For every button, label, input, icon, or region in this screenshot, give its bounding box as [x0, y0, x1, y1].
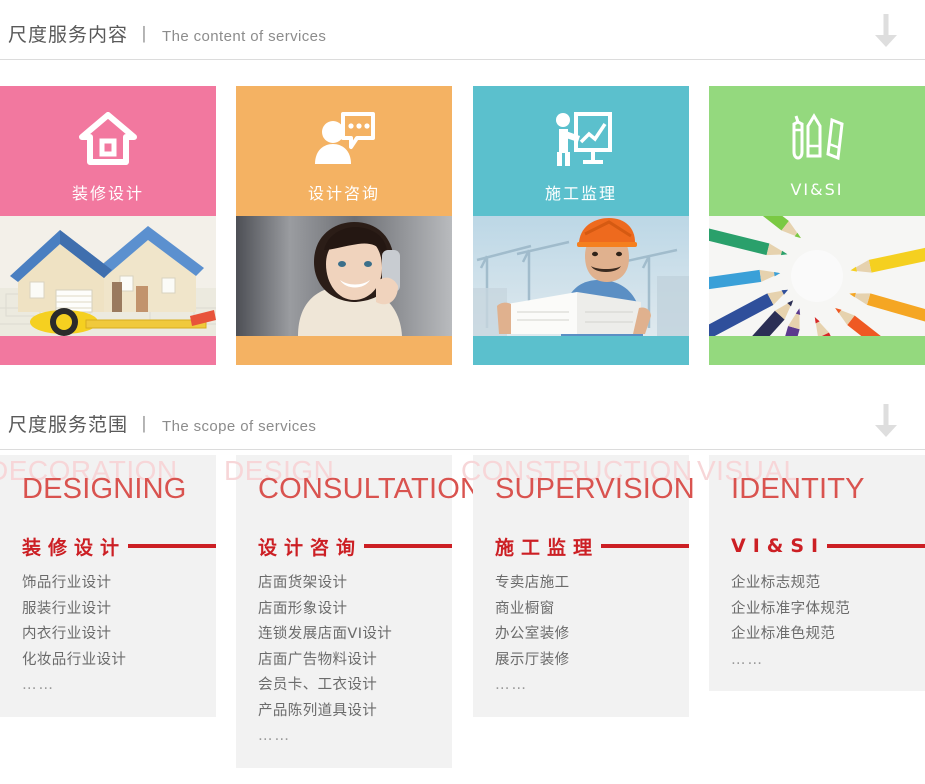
- section-title-en: The content of services: [162, 28, 326, 45]
- scope-column-header: DESIGN CONSULTATION: [236, 455, 452, 533]
- scope-item-list: 店面货架设计 店面形象设计 连锁发展店面VI设计 店面广告物料设计 会员卡、工衣…: [258, 571, 452, 750]
- list-item[interactable]: 连锁发展店面VI设计: [258, 622, 452, 648]
- list-item[interactable]: 企业标准字体规范: [731, 597, 925, 623]
- scope-cn-title-row: 施工监理: [495, 533, 689, 559]
- service-card-row: 装修设计: [0, 86, 925, 365]
- scope-column-header: DECORATION DESIGNING: [0, 455, 216, 533]
- list-item-ellipsis: ……: [731, 648, 925, 674]
- section-title-cn: 尺度服务内容: [8, 20, 128, 47]
- presenter-chart-icon: [550, 110, 612, 168]
- service-card-label: 设计咨询: [308, 180, 380, 204]
- section-title-en: The scope of services: [162, 418, 316, 435]
- list-item-ellipsis: ……: [22, 673, 216, 699]
- section-title-group: 尺度服务内容 丨 The content of services: [8, 20, 326, 47]
- list-item[interactable]: 会员卡、工衣设计: [258, 673, 452, 699]
- list-item[interactable]: 专卖店施工: [495, 571, 689, 597]
- scope-cn-title: 设计咨询: [258, 533, 362, 560]
- list-item[interactable]: 产品陈列道具设计: [258, 699, 452, 725]
- arrow-down-icon: [871, 404, 901, 438]
- list-item[interactable]: 店面形象设计: [258, 597, 452, 623]
- list-item[interactable]: 服装行业设计: [22, 597, 216, 623]
- scope-item-list: 企业标志规范 企业标准字体规范 企业标准色规范 ……: [731, 571, 925, 673]
- scope-item-list: 专卖店施工 商业橱窗 办公室装修 展示厅装修 ……: [495, 571, 689, 699]
- arrow-down-icon: [871, 14, 901, 48]
- scope-en-title: SUPERVISION: [495, 473, 695, 506]
- scope-en-title: DESIGNING: [22, 473, 187, 506]
- scope-cn-title: 施工监理: [495, 533, 599, 560]
- service-card-photo-pencils: [709, 216, 925, 336]
- service-card-supervision[interactable]: 施工监理: [473, 86, 689, 365]
- section-header-scope: 尺度服务范围 丨 The scope of services: [0, 390, 925, 450]
- list-item-ellipsis: ……: [258, 724, 452, 750]
- list-item-ellipsis: ……: [495, 673, 689, 699]
- list-item[interactable]: 化妆品行业设计: [22, 648, 216, 674]
- service-card-label: 施工监理: [545, 180, 617, 204]
- scope-column-header: VISUAL IDENTITY: [709, 455, 925, 533]
- scope-cn-title: 装修设计: [22, 533, 126, 560]
- house-icon: [79, 110, 137, 168]
- list-item[interactable]: 饰品行业设计: [22, 571, 216, 597]
- list-item[interactable]: 企业标准色规范: [731, 622, 925, 648]
- scope-cn-title: VI&SI: [731, 535, 825, 557]
- list-item[interactable]: 办公室装修: [495, 622, 689, 648]
- service-page: 尺度服务内容 丨 The content of services 装修设计: [0, 0, 925, 784]
- person-speech-bubble-icon: [313, 110, 375, 168]
- list-item[interactable]: 展示厅装修: [495, 648, 689, 674]
- scope-cn-title-row: VI&SI: [731, 533, 925, 559]
- service-card-label: 装修设计: [72, 180, 144, 204]
- service-card-decoration[interactable]: 装修设计: [0, 86, 216, 365]
- scope-en-title: IDENTITY: [731, 473, 865, 506]
- list-item[interactable]: 内衣行业设计: [22, 622, 216, 648]
- section-header-content: 尺度服务内容 丨 The content of services: [0, 0, 925, 60]
- scope-en-title: CONSULTATION: [258, 473, 481, 506]
- section-title-separator: 丨: [135, 21, 153, 47]
- scope-column-header: CONSTRUCTION SUPERVISION: [473, 455, 689, 533]
- scope-column-consultation: DESIGN CONSULTATION 设计咨询 店面货架设计 店面形象设计 连…: [236, 455, 452, 768]
- pen-pencil-eraser-icon: [788, 110, 846, 168]
- service-card-consultation[interactable]: 设计咨询: [236, 86, 452, 365]
- scope-cn-title-row: 装修设计: [22, 533, 216, 559]
- scope-cn-title-row: 设计咨询: [258, 533, 452, 559]
- list-item[interactable]: 店面货架设计: [258, 571, 452, 597]
- scope-title-rule: [128, 544, 216, 548]
- section-title-separator: 丨: [135, 411, 153, 437]
- section-title-group: 尺度服务范围 丨 The scope of services: [8, 410, 316, 437]
- scope-title-rule: [364, 544, 452, 548]
- list-item[interactable]: 店面广告物料设计: [258, 648, 452, 674]
- scope-column-supervision: CONSTRUCTION SUPERVISION 施工监理 专卖店施工 商业橱窗…: [473, 455, 689, 717]
- service-card-visual-identity[interactable]: VI&SI: [709, 86, 925, 365]
- scope-column-designing: DECORATION DESIGNING 装修设计 饰品行业设计 服装行业设计 …: [0, 455, 216, 717]
- scope-column-identity: VISUAL IDENTITY VI&SI 企业标志规范 企业标准字体规范 企业…: [709, 455, 925, 691]
- service-card-photo-house: [0, 216, 216, 336]
- service-card-photo-engineer: [473, 216, 689, 336]
- service-card-photo-woman-phone: [236, 216, 452, 336]
- scope-item-list: 饰品行业设计 服装行业设计 内衣行业设计 化妆品行业设计 ……: [22, 571, 216, 699]
- scope-title-rule: [827, 544, 925, 548]
- scope-title-rule: [601, 544, 689, 548]
- list-item[interactable]: 企业标志规范: [731, 571, 925, 597]
- section-title-cn: 尺度服务范围: [8, 410, 128, 437]
- list-item[interactable]: 商业橱窗: [495, 597, 689, 623]
- service-card-label: VI&SI: [790, 180, 843, 199]
